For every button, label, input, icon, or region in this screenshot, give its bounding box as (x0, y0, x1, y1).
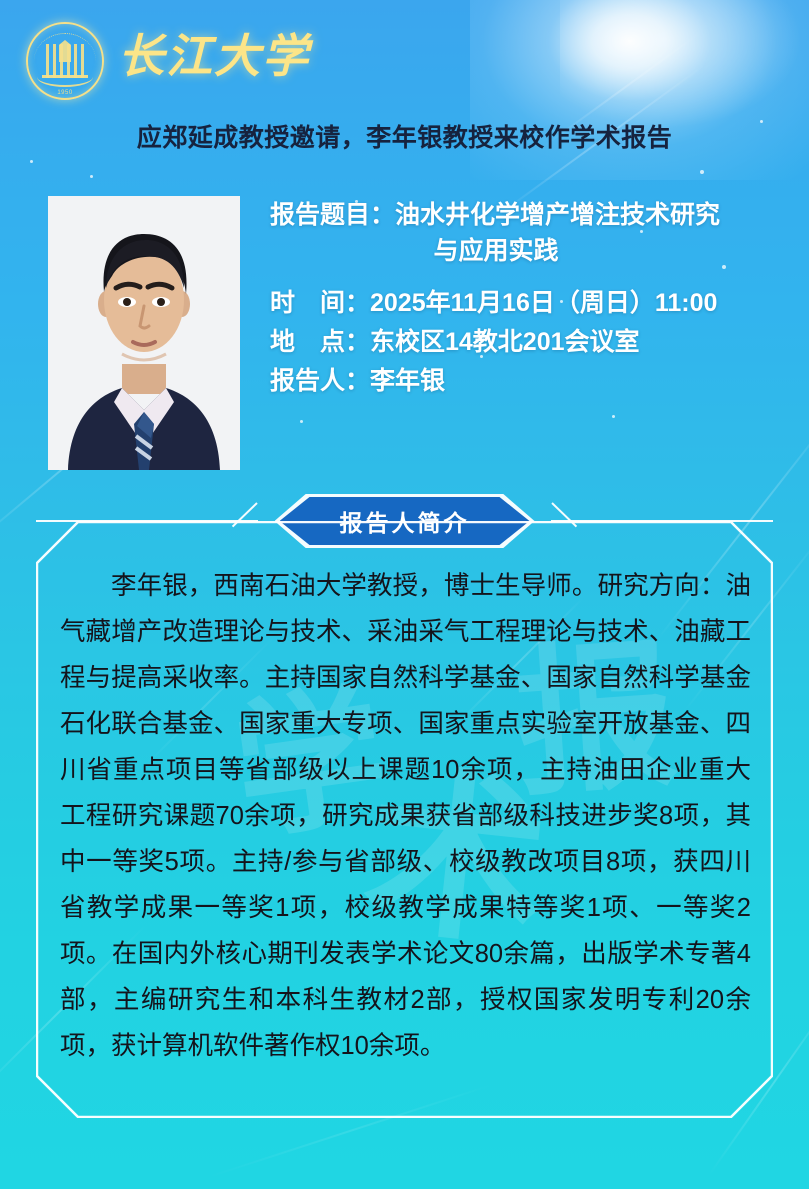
sparkle-decoration (30, 160, 33, 163)
report-title-line2: 与应用实践 (270, 234, 790, 270)
report-title-line1: 报告题目：油水井化学增产增注技术研究 (270, 201, 720, 229)
sparkle-decoration (700, 170, 704, 174)
lecture-details: 报告题目：油水井化学增产增注技术研究 与应用实践 时 间：2025年11月16日… (270, 198, 790, 399)
lecture-place: 地 点：东校区14教北201会议室 (270, 324, 790, 361)
speaker-bio-text: 李年银，西南石油大学教授，博士生导师。研究方向：油气藏增产改造理论与技术、采油采… (60, 563, 751, 1069)
page-title: 应郑延成教授邀请，李年银教授来校作学术报告 (0, 118, 809, 154)
lecture-time: 时 间：2025年11月16日（周日）11:00 (270, 285, 790, 322)
sparkle-decoration (90, 175, 93, 178)
academic-lecture-poster: 1950 长江大学 应郑延成教授邀请，李年银教授来校作学术报告 (0, 0, 809, 1189)
lecture-speaker: 报告人：李年银 (270, 363, 790, 400)
speaker-portrait-photo (48, 196, 240, 470)
university-name: 长江大学 (118, 34, 310, 88)
university-branding: 1950 长江大学 (26, 22, 310, 100)
university-seal-icon: 1950 (26, 22, 104, 100)
speaker-bio-panel: 学 术 报 李年银，西南石油大学教授，博士生导师。研究方向：油气藏增产改造理论与… (36, 521, 773, 1118)
seal-year-label: 1950 (57, 90, 72, 96)
sparkle-decoration (612, 415, 615, 418)
sparkle-decoration (300, 420, 303, 423)
report-title: 报告题目：油水井化学增产增注技术研究 与应用实践 (270, 198, 790, 269)
